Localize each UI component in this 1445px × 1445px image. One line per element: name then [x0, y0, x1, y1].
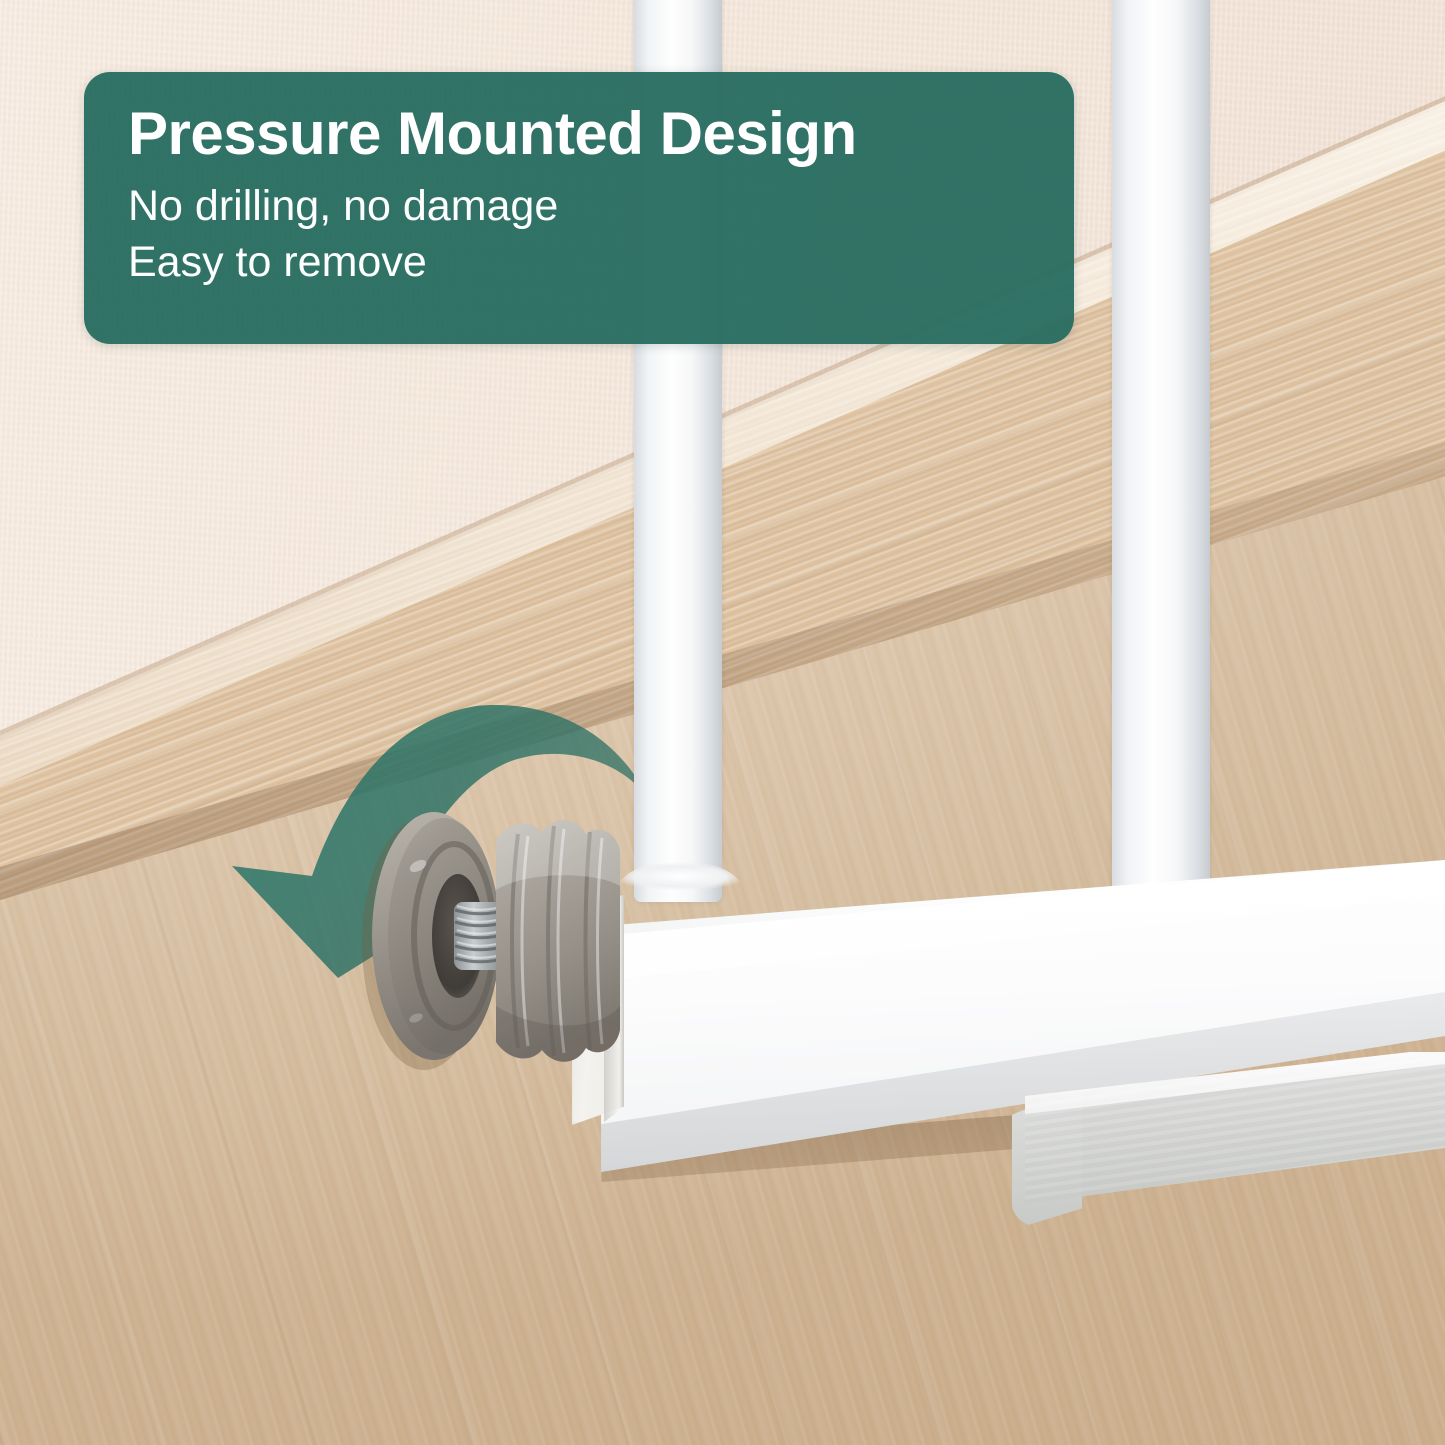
- callout-panel-content: Pressure Mounted Design No drilling, no …: [84, 72, 1074, 291]
- page-title: Pressure Mounted Design: [128, 102, 1074, 166]
- feature-callout-panel: Pressure Mounted Design No drilling, no …: [84, 72, 1074, 344]
- callout-subtitle-line-1: No drilling, no damage: [128, 178, 1074, 235]
- gate-vertical-bar-right: [1112, 0, 1210, 990]
- product-feature-image: Pressure Mounted Design No drilling, no …: [0, 0, 1445, 1445]
- callout-subtitle-line-2: Easy to remove: [128, 234, 1074, 291]
- pressure-mount-assembly[interactable]: [358, 806, 648, 1116]
